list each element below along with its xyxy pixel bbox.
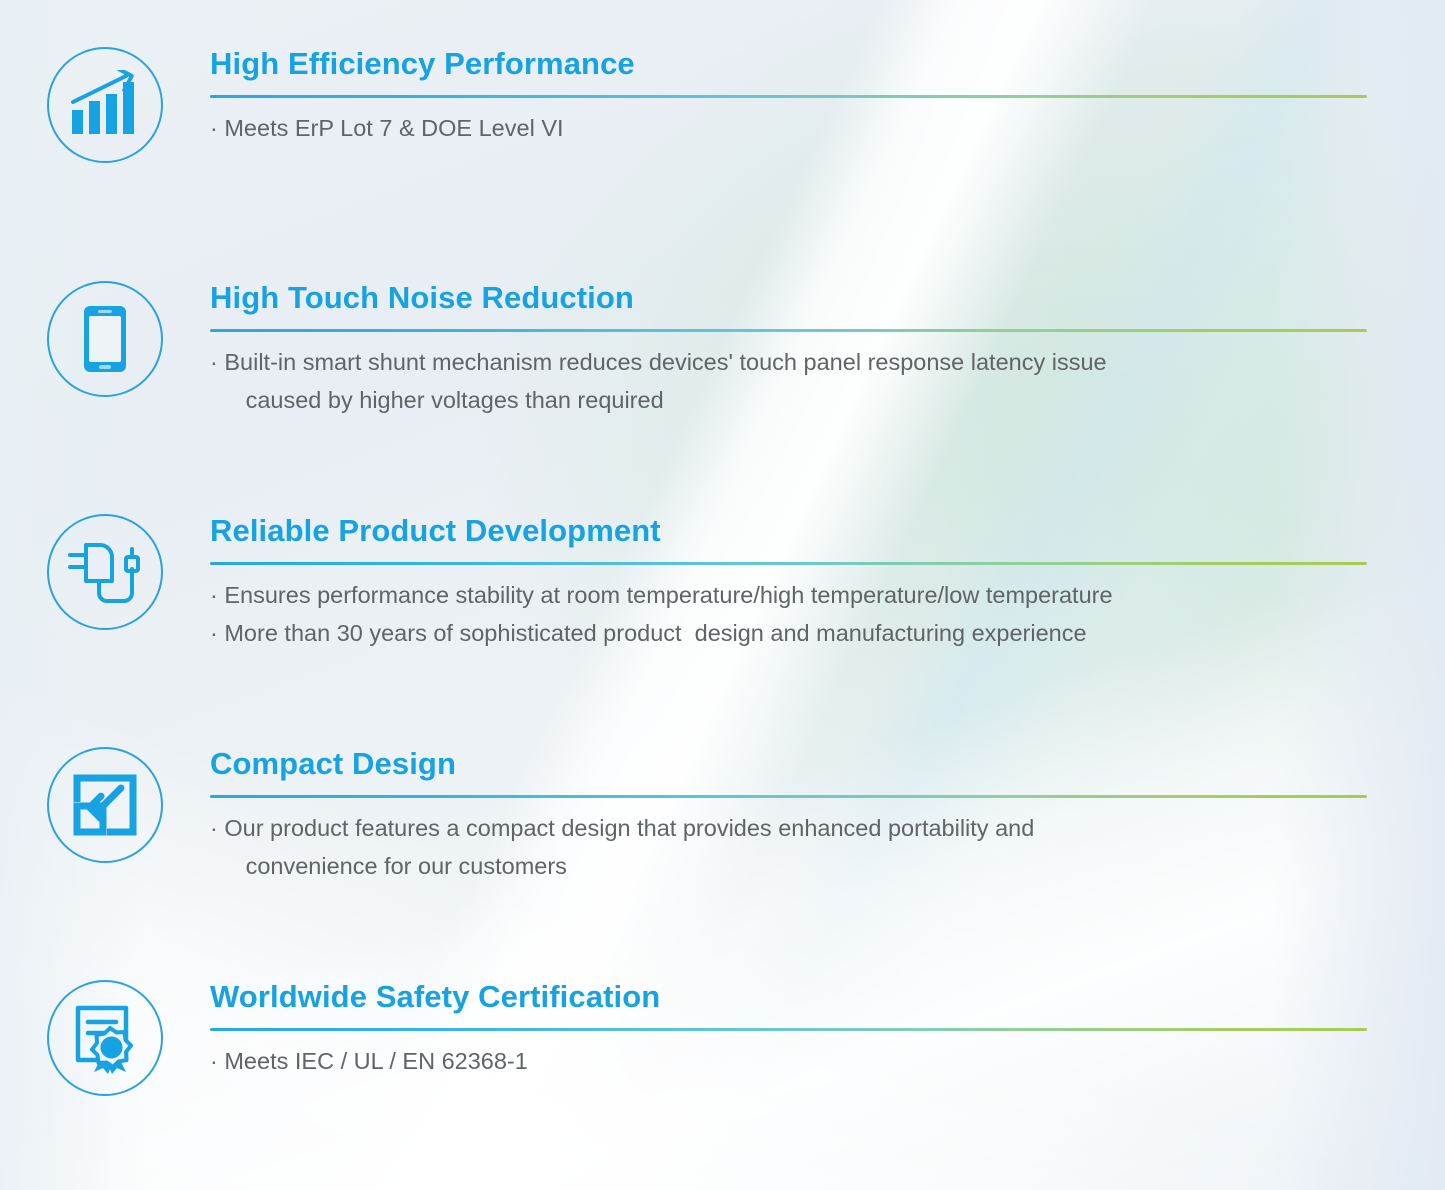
feature-item-reliable-product-development: Reliable Product Development · Ensures p… [0,514,1445,652]
feature-bullet: · Ensures performance stability at room … [210,576,1367,614]
feature-text-cell: Worldwide Safety Certification · Meets I… [210,980,1445,1080]
feature-item-worldwide-safety-certification: Worldwide Safety Certification · Meets I… [0,980,1445,1096]
feature-divider [210,95,1367,98]
feature-description: · Meets ErP Lot 7 & DOE Level VI [210,109,1367,147]
feature-icon-cell [0,747,210,863]
bar-chart-growth-icon [47,47,163,163]
feature-item-high-touch-noise-reduction: High Touch Noise Reduction · Built-in sm… [0,281,1445,419]
feature-bullet: · Our product features a compact design … [210,809,1367,885]
feature-icon-cell [0,47,210,163]
feature-text-cell: Reliable Product Development · Ensures p… [210,514,1445,652]
feature-bullet: · Built-in smart shunt mechanism reduces… [210,343,1367,419]
feature-text-cell: High Efficiency Performance · Meets ErP … [210,47,1445,147]
feature-text-cell: High Touch Noise Reduction · Built-in sm… [210,281,1445,419]
smartphone-icon [47,281,163,397]
feature-highlights-page: High Efficiency Performance · Meets ErP … [0,0,1445,1190]
feature-description: · Built-in smart shunt mechanism reduces… [210,343,1367,419]
feature-divider [210,1028,1367,1031]
feature-icon-cell [0,281,210,397]
feature-bullet: · Meets IEC / UL / EN 62368-1 [210,1042,1367,1080]
feature-icon-cell [0,980,210,1096]
feature-bullet: · Meets ErP Lot 7 & DOE Level VI [210,109,1367,147]
feature-title: High Touch Noise Reduction [210,281,1367,316]
feature-description: · Meets IEC / UL / EN 62368-1 [210,1042,1367,1080]
feature-title: High Efficiency Performance [210,47,1367,82]
feature-title: Compact Design [210,747,1367,782]
feature-title: Worldwide Safety Certification [210,980,1367,1015]
feature-divider [210,329,1367,332]
feature-item-compact-design: Compact Design · Our product features a … [0,747,1445,885]
certificate-seal-icon [47,980,163,1096]
feature-icon-cell [0,514,210,630]
feature-bullet: · More than 30 years of sophisticated pr… [210,614,1367,652]
compact-resize-icon [47,747,163,863]
power-adapter-icon [47,514,163,630]
feature-text-cell: Compact Design · Our product features a … [210,747,1445,885]
feature-divider [210,795,1367,798]
feature-divider [210,562,1367,565]
feature-description: · Ensures performance stability at room … [210,576,1367,652]
feature-description: · Our product features a compact design … [210,809,1367,885]
feature-item-high-efficiency-performance: High Efficiency Performance · Meets ErP … [0,47,1445,163]
feature-title: Reliable Product Development [210,514,1367,549]
